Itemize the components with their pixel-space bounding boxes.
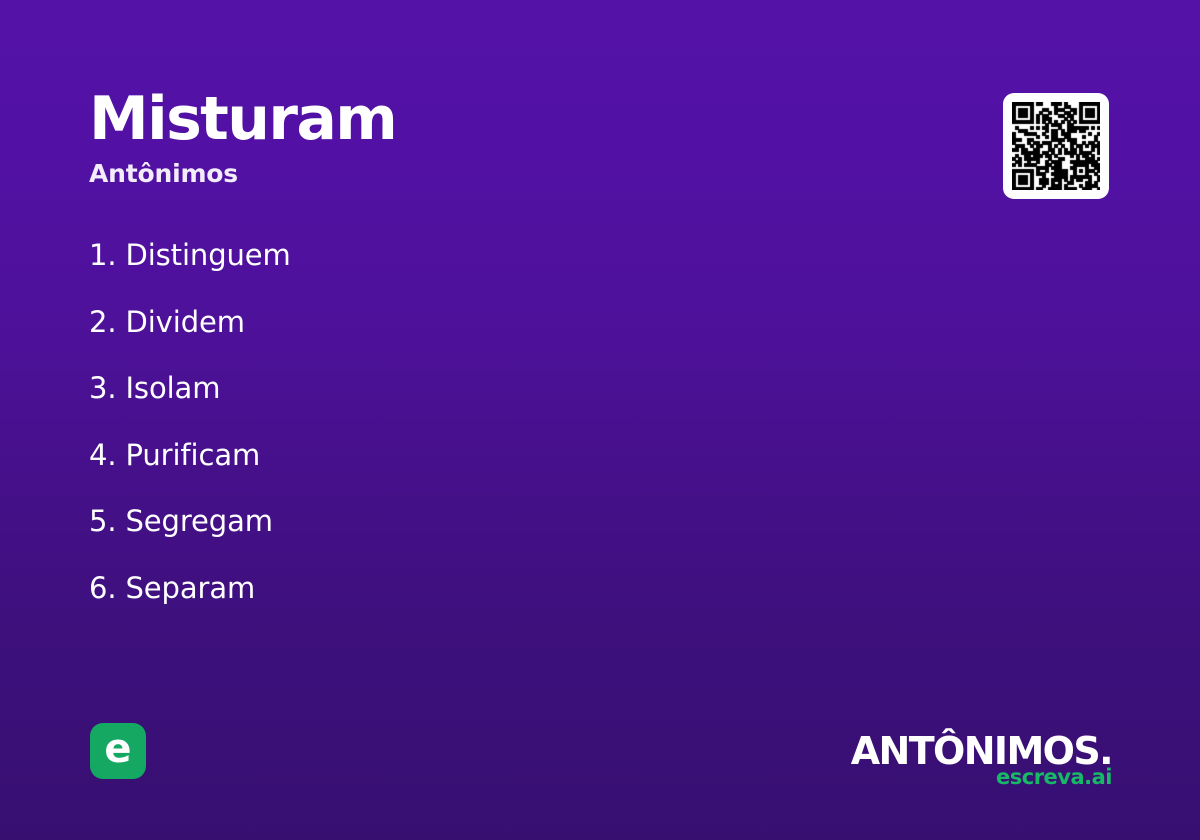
list-item: 1.Distinguem [89,238,291,305]
list-item-index: 1. [89,238,116,272]
list-item-index: 2. [89,305,116,339]
brand-mark-letter: e [104,729,131,769]
antonym-list: 1.Distinguem2.Dividem3.Isolam4.Purificam… [89,238,291,637]
list-item: 3.Isolam [89,371,291,438]
list-item-word: Purificam [125,438,260,472]
list-item: 2.Dividem [89,305,291,372]
list-item-word: Distinguem [125,238,290,272]
list-item-word: Separam [125,571,255,605]
card-header: Misturam Antônimos [89,88,396,189]
footer-logo[interactable]: ANTÔNIMOS. escreva.ai [851,732,1112,788]
list-item: 6.Separam [89,571,291,638]
escreva-brand-icon[interactable]: e [90,723,146,779]
qr-code-image [1012,102,1100,190]
list-item: 4.Purificam [89,438,291,505]
list-item-word: Isolam [125,371,220,405]
list-item-word: Dividem [125,305,244,339]
list-item: 5.Segregam [89,504,291,571]
list-item-index: 4. [89,438,116,472]
qr-code[interactable] [1003,93,1109,199]
list-item-word: Segregam [125,504,272,538]
antonyms-card: Misturam Antônimos 1.Distinguem2.Dividem… [0,0,1200,840]
list-item-index: 5. [89,504,116,538]
list-item-index: 3. [89,371,116,405]
page-title: Misturam [89,88,396,151]
page-subtitle: Antônimos [89,160,396,189]
list-item-index: 6. [89,571,116,605]
